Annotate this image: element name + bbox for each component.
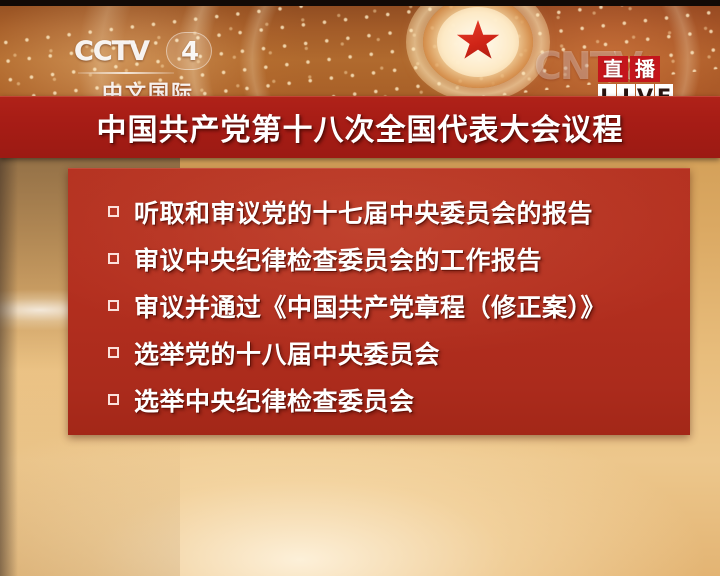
channel-name-text: CCTV: [74, 36, 149, 67]
background-left-edge-shadow: [0, 150, 18, 576]
square-bullet-icon: [108, 206, 119, 217]
square-bullet-icon: [108, 300, 119, 311]
square-bullet-icon: [108, 347, 119, 358]
list-item: 选举党的十八届中央委员会: [108, 329, 676, 376]
agenda-item-text: 选举中央纪律检查委员会: [134, 382, 415, 418]
live-badge-char: 播: [630, 56, 660, 82]
list-item: 选举中央纪律检查委员会: [108, 376, 676, 423]
square-bullet-icon: [108, 394, 119, 405]
list-item: 听取和审议党的十七届中央委员会的报告: [108, 188, 676, 235]
agenda-item-text: 选举党的十八届中央委员会: [134, 335, 440, 371]
list-item: 审议并通过《中国共产党章程（修正案）》: [108, 282, 676, 329]
channel-number-badge: 4: [166, 32, 212, 70]
agenda-item-text: 听取和审议党的十七届中央委员会的报告: [134, 194, 593, 230]
channel-logo-underline: [78, 72, 174, 74]
agenda-panel: 听取和审议党的十七届中央委员会的报告 审议中央纪律检查委员会的工作报告 审议并通…: [68, 168, 690, 435]
square-bullet-icon: [108, 253, 119, 264]
page-title: 中国共产党第十八次全国代表大会议程: [97, 105, 624, 149]
live-badge-chinese: 直 播: [598, 56, 676, 82]
agenda-item-text: 审议并通过《中国共产党章程（修正案）》: [134, 288, 606, 324]
letterbox-strip-top: [0, 0, 720, 6]
list-item: 审议中央纪律检查委员会的工作报告: [108, 235, 676, 282]
red-star-emblem: [406, 0, 550, 102]
agenda-list: 听取和审议党的十七届中央委员会的报告 审议中央纪律检查委员会的工作报告 审议并通…: [108, 188, 676, 423]
broadcast-screen: CCTV 4 中文国际 CNTV 直 播 L I V E 中国共产党第十八次全国…: [0, 0, 720, 576]
live-badge-char: 直: [598, 56, 628, 82]
title-band: 中国共产党第十八次全国代表大会议程: [0, 96, 720, 158]
agenda-item-text: 审议中央纪律检查委员会的工作报告: [134, 241, 542, 277]
channel-number-text: 4: [167, 33, 213, 71]
channel-logo: CCTV 4 中文国际: [74, 34, 254, 104]
